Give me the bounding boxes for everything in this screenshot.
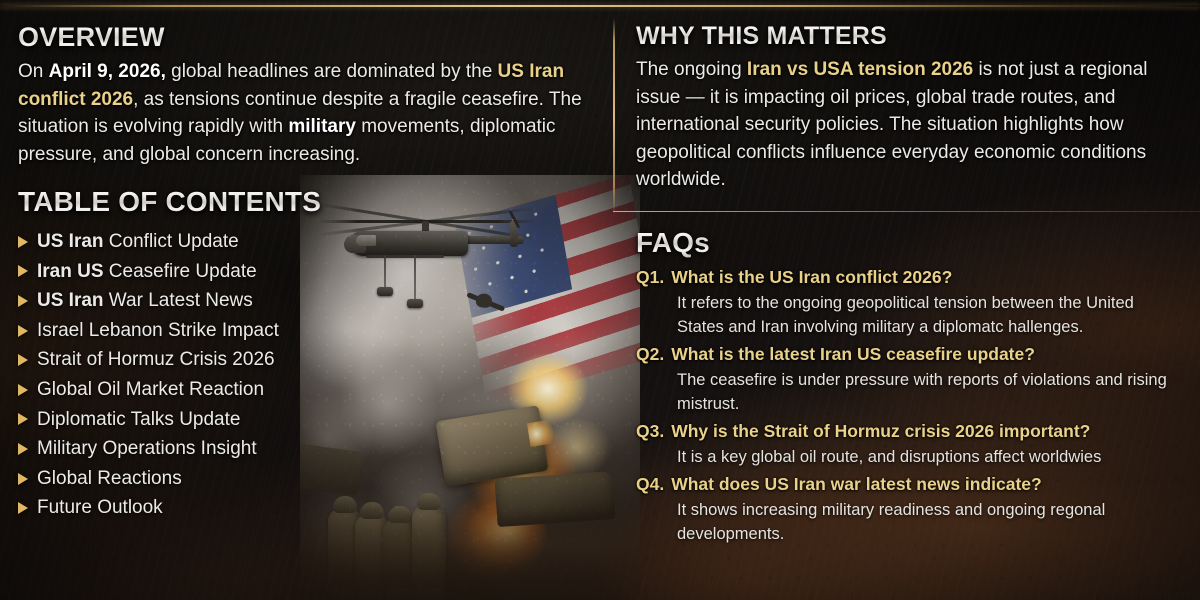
- arrow-right-icon: [18, 473, 28, 485]
- faq-item-3[interactable]: Q3. Why is the Strait of Hormuz crisis 2…: [636, 418, 1184, 469]
- faq-question-row: Q3. Why is the Strait of Hormuz crisis 2…: [636, 418, 1184, 444]
- toc-item-2[interactable]: Iran US Ceasefire Update: [18, 257, 594, 287]
- faq-number: Q1.: [636, 264, 664, 290]
- faq-answer: The ceasefire is under pressure with rep…: [677, 367, 1184, 416]
- toc-item-4[interactable]: Israel Lebanon Strike Impact: [18, 316, 594, 346]
- faq-answer: It refers to the ongoing geopolitical te…: [677, 290, 1184, 339]
- faq-item-4[interactable]: Q4. What does US Iran war latest news in…: [636, 471, 1184, 546]
- toc-heading: TABLE OF CONTENTS: [18, 186, 594, 218]
- toc-item-10[interactable]: Future Outlook: [18, 493, 594, 523]
- toc-item-label: Global Reactions: [37, 464, 182, 494]
- faq-number: Q4.: [636, 471, 664, 497]
- vertical-divider: [613, 18, 615, 214]
- arrow-right-icon: [18, 502, 28, 514]
- toc-item-9[interactable]: Global Reactions: [18, 464, 594, 494]
- faq-question: What is the latest Iran US ceasefire upd…: [671, 341, 1035, 367]
- left-column: OVERVIEW On April 9, 2026, global headli…: [18, 22, 594, 523]
- faq-question-row: Q1. What is the US Iran conflict 2026?: [636, 264, 1184, 290]
- right-column: WHY THIS MATTERS The ongoing Iran vs USA…: [636, 22, 1184, 548]
- faq-item-2[interactable]: Q2. What is the latest Iran US ceasefire…: [636, 341, 1184, 416]
- overview-heading: OVERVIEW: [18, 22, 594, 53]
- overview-text-2: global headlines are dominated by the: [166, 61, 498, 82]
- overview-paragraph: On April 9, 2026, global headlines are d…: [18, 58, 594, 168]
- toc-item-label: Future Outlook: [37, 493, 163, 523]
- toc-item-3[interactable]: US Iran War Latest News: [18, 286, 594, 316]
- toc-item-label: Strait of Hormuz Crisis 2026: [37, 345, 275, 375]
- toc-item-7[interactable]: Diplomatic Talks Update: [18, 405, 594, 435]
- toc-list: US Iran Conflict Update Iran US Ceasefir…: [18, 227, 594, 523]
- why-this-matters-paragraph: The ongoing Iran vs USA tension 2026 is …: [636, 56, 1184, 194]
- toc-item-label: Diplomatic Talks Update: [37, 405, 240, 435]
- toc-item-label: Iran US Ceasefire Update: [37, 257, 257, 287]
- overview-date: April 9, 2026,: [49, 61, 166, 82]
- arrow-right-icon: [18, 354, 28, 366]
- faq-question: What does US Iran war latest news indica…: [671, 471, 1042, 497]
- why-this-matters-heading: WHY THIS MATTERS: [636, 22, 1184, 51]
- toc-item-label: Military Operations Insight: [37, 434, 257, 464]
- arrow-right-icon: [18, 325, 28, 337]
- why-keyword: Iran vs USA tension 2026: [747, 59, 973, 80]
- toc-item-5[interactable]: Strait of Hormuz Crisis 2026: [18, 345, 594, 375]
- faq-question: What is the US Iran conflict 2026?: [671, 264, 952, 290]
- faq-item-1[interactable]: Q1. What is the US Iran conflict 2026? I…: [636, 264, 1184, 339]
- overview-bold-military: military: [288, 116, 356, 137]
- faq-question: Why is the Strait of Hormuz crisis 2026 …: [671, 418, 1090, 444]
- toc-item-label: Israel Lebanon Strike Impact: [37, 316, 279, 346]
- faq-list: Q1. What is the US Iran conflict 2026? I…: [636, 264, 1184, 546]
- top-gold-rule: [0, 5, 1200, 7]
- arrow-right-icon: [18, 295, 28, 307]
- arrow-right-icon: [18, 384, 28, 396]
- faq-number: Q3.: [636, 418, 664, 444]
- toc-item-label: US Iran War Latest News: [37, 286, 253, 316]
- arrow-right-icon: [18, 413, 28, 425]
- arrow-right-icon: [18, 236, 28, 248]
- faq-answer: It shows increasing military readiness a…: [677, 497, 1184, 546]
- faq-question-row: Q2. What is the latest Iran US ceasefire…: [636, 341, 1184, 367]
- toc-item-1[interactable]: US Iran Conflict Update: [18, 227, 594, 257]
- arrow-right-icon: [18, 265, 28, 277]
- why-text-1: The ongoing: [636, 59, 747, 80]
- toc-item-label: Global Oil Market Reaction: [37, 375, 264, 405]
- toc-item-6[interactable]: Global Oil Market Reaction: [18, 375, 594, 405]
- faq-question-row: Q4. What does US Iran war latest news in…: [636, 471, 1184, 497]
- overview-text-1: On: [18, 61, 49, 82]
- arrow-right-icon: [18, 443, 28, 455]
- infographic-poster: OVERVIEW On April 9, 2026, global headli…: [0, 0, 1200, 600]
- toc-item-8[interactable]: Military Operations Insight: [18, 434, 594, 464]
- faq-answer: It is a key global oil route, and disrup…: [677, 444, 1184, 469]
- toc-item-label: US Iran Conflict Update: [37, 227, 239, 257]
- faq-number: Q2.: [636, 341, 664, 367]
- faqs-heading: FAQs: [636, 227, 1184, 259]
